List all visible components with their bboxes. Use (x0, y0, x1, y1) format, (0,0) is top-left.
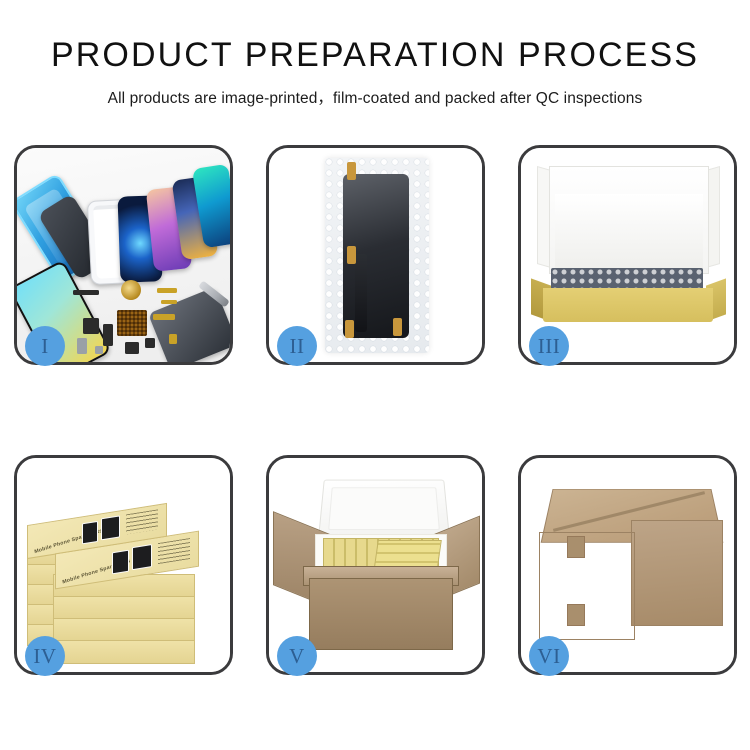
phone-screen-print (112, 550, 129, 575)
foam-sheet (555, 194, 703, 270)
step-badge-6: VI (529, 636, 569, 676)
process-step-panel-3[interactable]: III (518, 145, 737, 365)
carton-side-face (631, 520, 723, 626)
process-step-panel-1[interactable]: I (14, 145, 233, 365)
carton-front-face (539, 532, 635, 640)
part-strip (73, 290, 99, 295)
phone-screen-print (132, 544, 152, 570)
part-strip (153, 314, 175, 320)
process-step-grid: I II III (14, 145, 736, 675)
part-strip (157, 288, 177, 293)
label-text-lines (126, 509, 158, 534)
page-title: PRODUCT PREPARATION PROCESS (0, 38, 750, 74)
page-subtitle: All products are image-printed，film-coat… (0, 86, 750, 108)
carton-tape-upper (567, 536, 585, 558)
box-front-panel (543, 288, 713, 322)
part-block (77, 338, 87, 354)
carton-tape-lower (567, 604, 585, 626)
process-step-panel-6[interactable]: VI (518, 455, 737, 675)
foam-lid (318, 480, 450, 539)
gold-tab-icon (347, 162, 356, 180)
box-slab (53, 596, 195, 620)
part-block (95, 346, 103, 354)
part-block (83, 318, 99, 334)
box-slab (53, 640, 195, 664)
small-parts-cluster (73, 276, 205, 362)
box-stack: Mobile Phone Spare Parts Mobile Phone Sp… (25, 482, 225, 662)
process-step-panel-5[interactable]: V (266, 455, 485, 675)
part-block (125, 342, 139, 354)
box-slab (53, 618, 195, 642)
header: PRODUCT PREPARATION PROCESS All products… (0, 0, 750, 108)
step-badge-2: II (277, 326, 317, 366)
part-block (103, 324, 113, 346)
chip-array-icon (117, 310, 147, 336)
carton-body (309, 578, 453, 650)
part-block (145, 338, 155, 348)
step-badge-4: IV (25, 636, 65, 676)
phone-screen-print (101, 515, 120, 540)
label-text-lines (158, 538, 190, 564)
speaker-coil-icon (121, 280, 141, 300)
process-step-panel-4[interactable]: Mobile Phone Spare Parts Mobile Phone Sp… (14, 455, 233, 675)
step-badge-5: V (277, 636, 317, 676)
phone-screen-print (82, 521, 98, 545)
gold-tab-icon (393, 318, 402, 336)
bubble-wrap-bag (325, 158, 429, 353)
process-step-panel-2[interactable]: II (266, 145, 485, 365)
step-badge-3: III (529, 326, 569, 366)
part-block (169, 334, 177, 344)
gold-tab-icon (345, 320, 354, 338)
part-strip (161, 300, 177, 304)
flex-cable-icon (355, 254, 367, 332)
gold-tab-icon (347, 246, 356, 264)
step-badge-1: I (25, 326, 65, 366)
